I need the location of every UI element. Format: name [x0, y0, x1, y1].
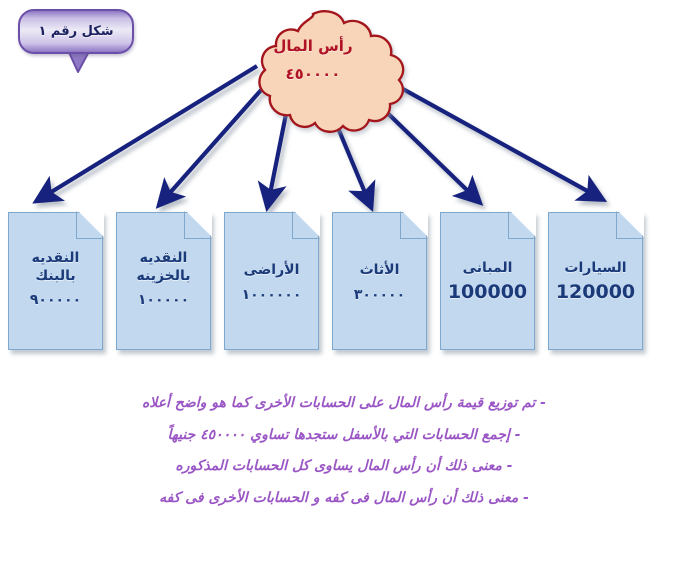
card-text-block: المبانى 100000 [444, 260, 531, 303]
account-name: السيارات [552, 260, 639, 278]
account-amount: 100000 [444, 281, 531, 303]
diagram-canvas: شكل رقم ١ رأس المال ٤٥٠٠٠٠ النقديه بالبن… [0, 0, 688, 572]
account-amount: ٩٠٠٠٠٠ [12, 292, 99, 308]
account-card-cash-in-treasury[interactable]: النقديه بالخزينه ١٠٠٠٠٠ [116, 212, 211, 350]
account-card-land[interactable]: الأراضى ١٠٠٠٠٠٠ [224, 212, 319, 350]
account-amount: ٣٠٠٠٠٠ [336, 287, 423, 303]
figure-number-callout[interactable]: شكل رقم ١ [18, 9, 134, 54]
card-text-block: الأثاث ٣٠٠٠٠٠ [336, 262, 423, 303]
account-amount: ١٠٠٠٠٠ [120, 292, 207, 308]
account-amount: 120000 [552, 281, 639, 303]
account-card-cars[interactable]: السيارات 120000 [548, 212, 643, 350]
note-line: - معنى ذلك أن رأس المال يساوى كل الحسابا… [0, 451, 688, 483]
account-card-buildings[interactable]: المبانى 100000 [440, 212, 535, 350]
note-line: - معنى ذلك أن رأس المال فى كفه و الحسابا… [0, 483, 688, 515]
capital-amount: ٤٥٠٠٠٠ [258, 66, 368, 83]
card-text-block: النقديه بالخزينه ١٠٠٠٠٠ [120, 250, 207, 308]
card-text-block: السيارات 120000 [552, 260, 639, 303]
note-line: - تم توزيع قيمة رأس المال على الحسابات ا… [0, 388, 688, 420]
account-name: النقديه بالبنك [12, 250, 99, 285]
figure-number-label: شكل رقم ١ [20, 11, 132, 52]
account-card-furniture[interactable]: الأثاث ٣٠٠٠٠٠ [332, 212, 427, 350]
account-card-cash-at-bank[interactable]: النقديه بالبنك ٩٠٠٠٠٠ [8, 212, 103, 350]
account-card-row: النقديه بالبنك ٩٠٠٠٠٠ النقديه بالخزينه ١… [0, 212, 688, 360]
account-amount: ١٠٠٠٠٠٠ [228, 287, 315, 303]
account-name: النقديه بالخزينه [120, 250, 207, 285]
account-name: الأثاث [336, 262, 423, 280]
card-text-block: الأراضى ١٠٠٠٠٠٠ [228, 262, 315, 303]
account-name: المبانى [444, 260, 531, 278]
notes-list: - تم توزيع قيمة رأس المال على الحسابات ا… [0, 388, 688, 515]
note-line: - إجمع الحسابات التي بالأسفل ستجدها تساو… [0, 420, 688, 452]
capital-title: رأس المال [258, 38, 368, 55]
card-text-block: النقديه بالبنك ٩٠٠٠٠٠ [12, 250, 99, 308]
account-name: الأراضى [228, 262, 315, 280]
capital-node: رأس المال ٤٥٠٠٠٠ [258, 38, 368, 82]
